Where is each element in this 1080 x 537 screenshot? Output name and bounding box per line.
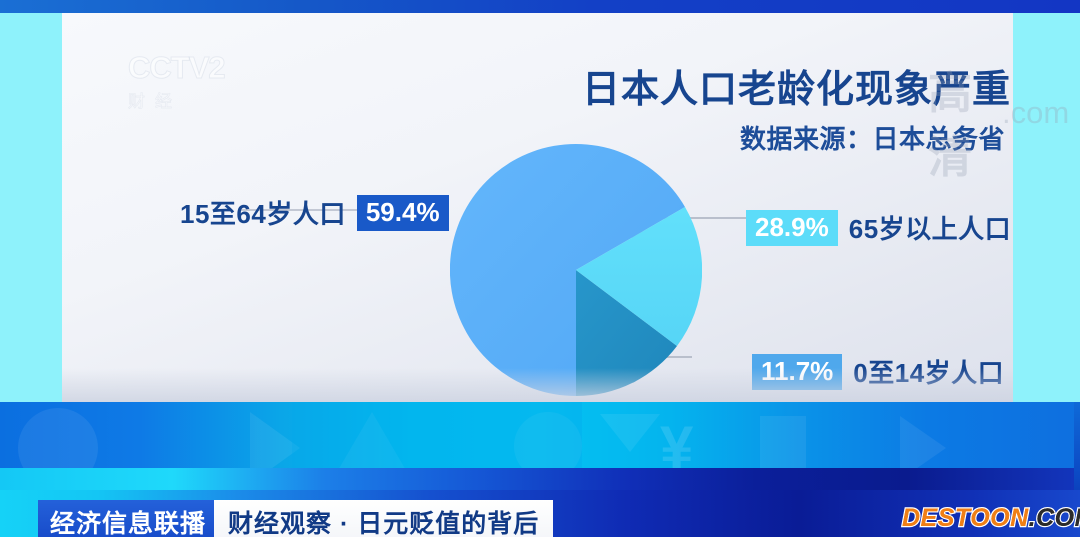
label-seniors: 28.9% 65岁以上人口 [746, 209, 1011, 246]
ticker-topic-label: 财经观察 · 日元贬值的背后 [228, 510, 539, 537]
cctv-logo-text: CCTV [128, 50, 208, 85]
page-title: 日本人口老龄化现象严重 [582, 58, 1011, 113]
label-seniors-text: 65岁以上人口 [849, 209, 1011, 246]
label-children-value: 11.7% [752, 354, 842, 390]
top-blue-bar [0, 0, 1080, 13]
left-cyan-strip [0, 13, 62, 402]
label-working-age-text: 15至64岁人口 [180, 194, 346, 231]
ticker-topic-box: 财经观察 · 日元贬值的背后 [214, 500, 553, 537]
right-cyan-strip [1013, 13, 1080, 402]
destoon-tld-text: .COM [1029, 504, 1080, 532]
label-children-text: 0至14岁人口 [853, 353, 1004, 390]
pie-chart [450, 144, 702, 396]
data-source-note: 数据来源：日本总务省 [740, 119, 1005, 156]
broadcast-screenshot: CCTV2 财经 日本人口老龄化现象严重 数据来源：日本总务省 高清 .com [0, 0, 1080, 537]
cctv-logo-wordmark: CCTV2 [128, 51, 278, 85]
band-bottom-strip [0, 468, 1080, 490]
destoon-watermark: DESTOON.COM [902, 504, 1080, 533]
destoon-brand-text: DESTOON [902, 504, 1029, 532]
label-children: 11.7% 0至14岁人口 [752, 353, 1004, 390]
cctv-logo-subtitle: 财经 [128, 87, 278, 112]
ticker-program-badge: 经济信息联播 [38, 500, 218, 537]
ticker-program-label: 经济信息联播 [50, 510, 206, 537]
label-seniors-value: 28.9% [746, 210, 838, 246]
label-working-age: 15至64岁人口 59.4% [180, 194, 449, 231]
cctv-logo-channel: 2 [208, 50, 224, 85]
chart-panel: CCTV2 财经 日本人口老龄化现象严重 数据来源：日本总务省 高清 .com [62, 13, 1013, 402]
label-working-age-value: 59.4% [357, 195, 449, 231]
decorative-band: ¥ [0, 402, 1080, 490]
cctv-logo: CCTV2 财经 [128, 51, 278, 123]
